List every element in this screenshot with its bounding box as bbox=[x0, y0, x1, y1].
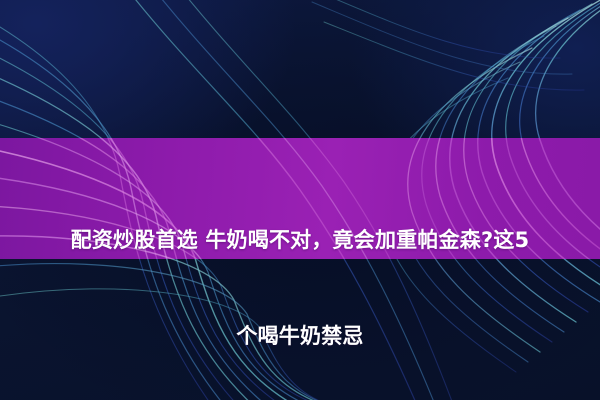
headline-line-1: 配资炒股首选 牛奶喝不对，竟会加重帕金森?这5 bbox=[0, 224, 600, 256]
headline-line-2: 个喝牛奶禁忌 bbox=[0, 320, 600, 352]
headline-text: 配资炒股首选 牛奶喝不对，竟会加重帕金森?这5 个喝牛奶禁忌 bbox=[0, 160, 600, 400]
article-banner: 配资炒股首选 牛奶喝不对，竟会加重帕金森?这5 个喝牛奶禁忌 bbox=[0, 0, 600, 400]
